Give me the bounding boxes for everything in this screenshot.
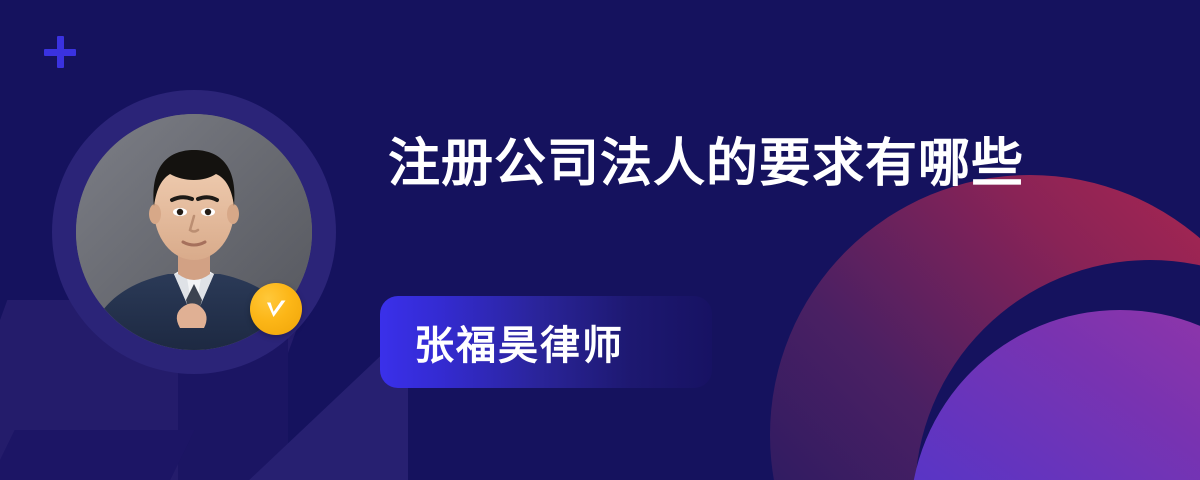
avatar bbox=[52, 90, 336, 374]
plus-icon bbox=[44, 36, 76, 68]
background-polygon-bottom bbox=[0, 430, 195, 480]
article-cover-banner: 注册公司法人的要求有哪些 张福昊律师 bbox=[0, 0, 1200, 480]
author-name-button[interactable]: 张福昊律师 bbox=[380, 296, 712, 388]
verified-badge-icon bbox=[250, 283, 302, 335]
headline-block: 注册公司法人的要求有哪些 bbox=[388, 126, 1088, 202]
page-title: 注册公司法人的要求有哪些 bbox=[388, 126, 1088, 202]
